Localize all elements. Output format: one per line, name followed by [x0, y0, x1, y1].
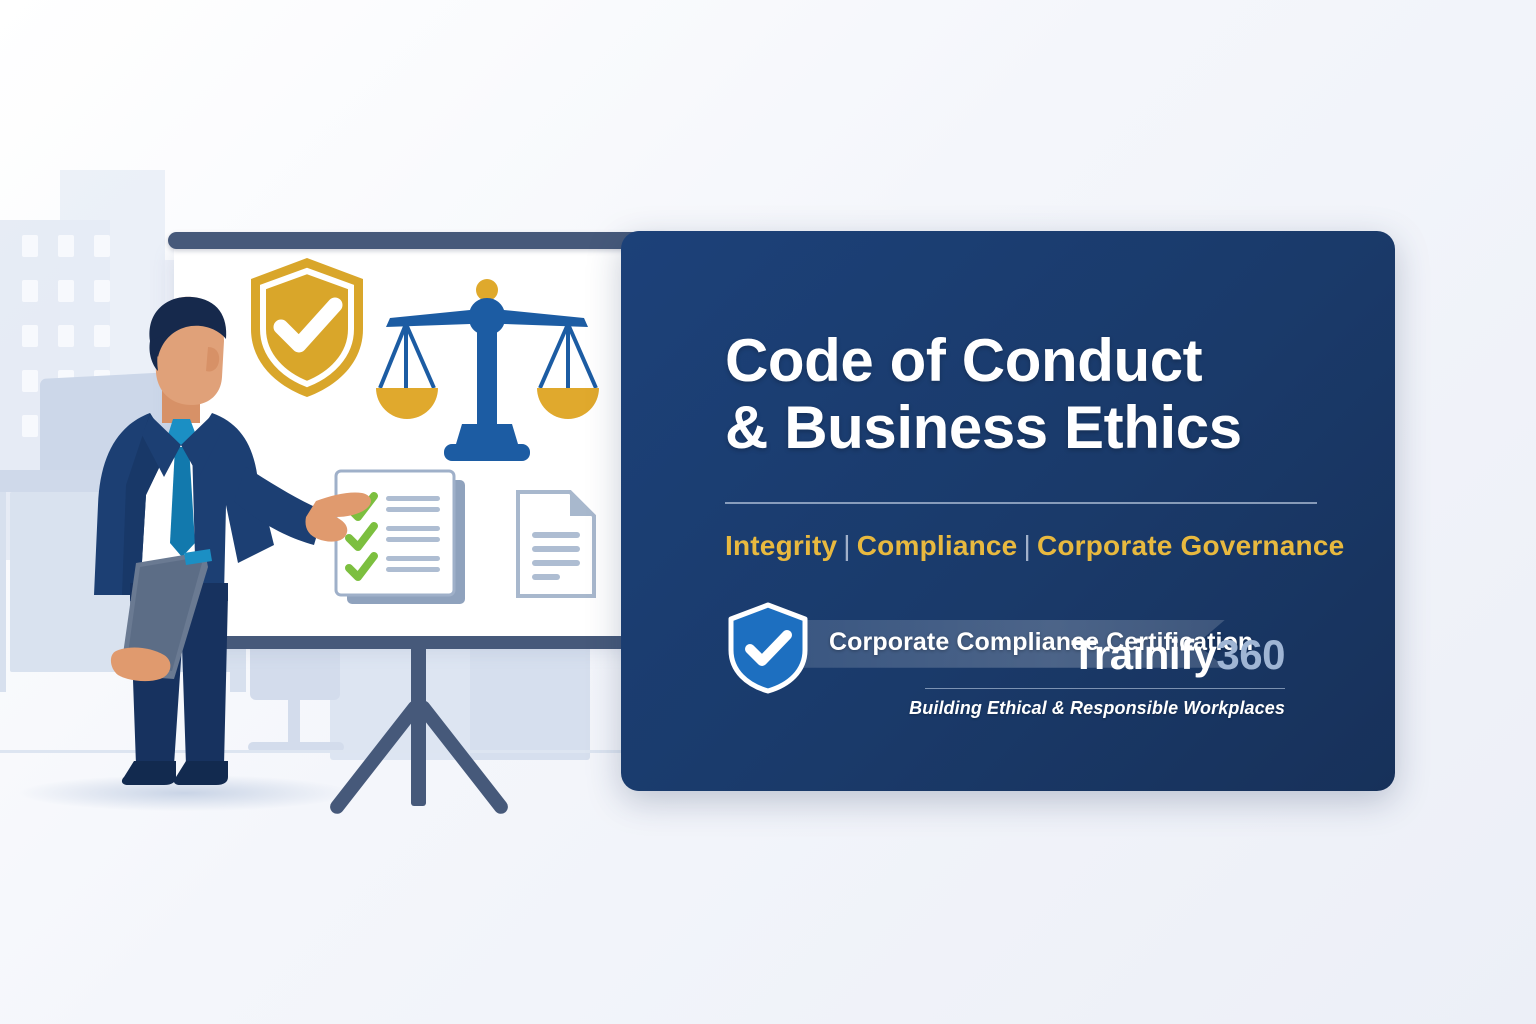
title-line-2: & Business Ethics — [725, 394, 1321, 461]
scales-column — [477, 328, 497, 424]
presenter-shoe — [174, 761, 228, 785]
building-window — [22, 415, 38, 437]
building-window — [22, 370, 38, 392]
business-presenter-illustration — [78, 295, 378, 795]
scales-pan-left — [376, 388, 438, 419]
brand-logo: Trainify360 Building Ethical & Responsib… — [909, 634, 1285, 720]
title-line-1: Code of Conduct — [725, 327, 1321, 394]
pillar-governance: Corporate Governance — [1037, 530, 1344, 561]
subtitle-pillars: Integrity|Compliance|Corporate Governanc… — [725, 530, 1321, 562]
logo-tagline: Building Ethical & Responsible Workplace… — [909, 698, 1285, 719]
building-window — [22, 280, 38, 302]
pillar-separator: | — [837, 530, 856, 561]
logo-wordmark: Trainify360 — [909, 634, 1285, 676]
building-window — [58, 280, 74, 302]
pillar-separator: | — [1017, 530, 1036, 561]
content-panel: Code of Conduct & Business Ethics Integr… — [621, 231, 1395, 791]
logo-suffix: 360 — [1216, 631, 1285, 678]
presenter-shoe — [122, 761, 176, 785]
background-box — [470, 645, 590, 760]
scales-base — [444, 444, 530, 461]
tripod-mast — [411, 646, 426, 806]
desk-leg — [0, 492, 6, 692]
scales-of-justice-icon — [372, 278, 602, 473]
poster-canvas: Code of Conduct & Business Ethics Integr… — [0, 0, 1536, 1024]
pillar-integrity: Integrity — [725, 530, 837, 561]
scales-base-taper — [456, 424, 518, 444]
logo-divider — [925, 688, 1285, 690]
shield-check-icon — [725, 602, 811, 694]
logo-name: Trainify — [1071, 631, 1216, 678]
building-window — [58, 325, 74, 347]
title-divider — [725, 502, 1317, 504]
building-window — [58, 235, 74, 257]
building-window — [22, 325, 38, 347]
scales-pan-right — [537, 388, 599, 419]
pillar-compliance: Compliance — [857, 530, 1018, 561]
document-page-icon — [512, 488, 600, 600]
scales-finial — [476, 279, 498, 301]
building-window — [22, 235, 38, 257]
building-window — [94, 235, 110, 257]
board-top-bar — [168, 232, 673, 249]
page-title: Code of Conduct & Business Ethics — [725, 327, 1321, 461]
presenter-hand — [306, 492, 371, 541]
